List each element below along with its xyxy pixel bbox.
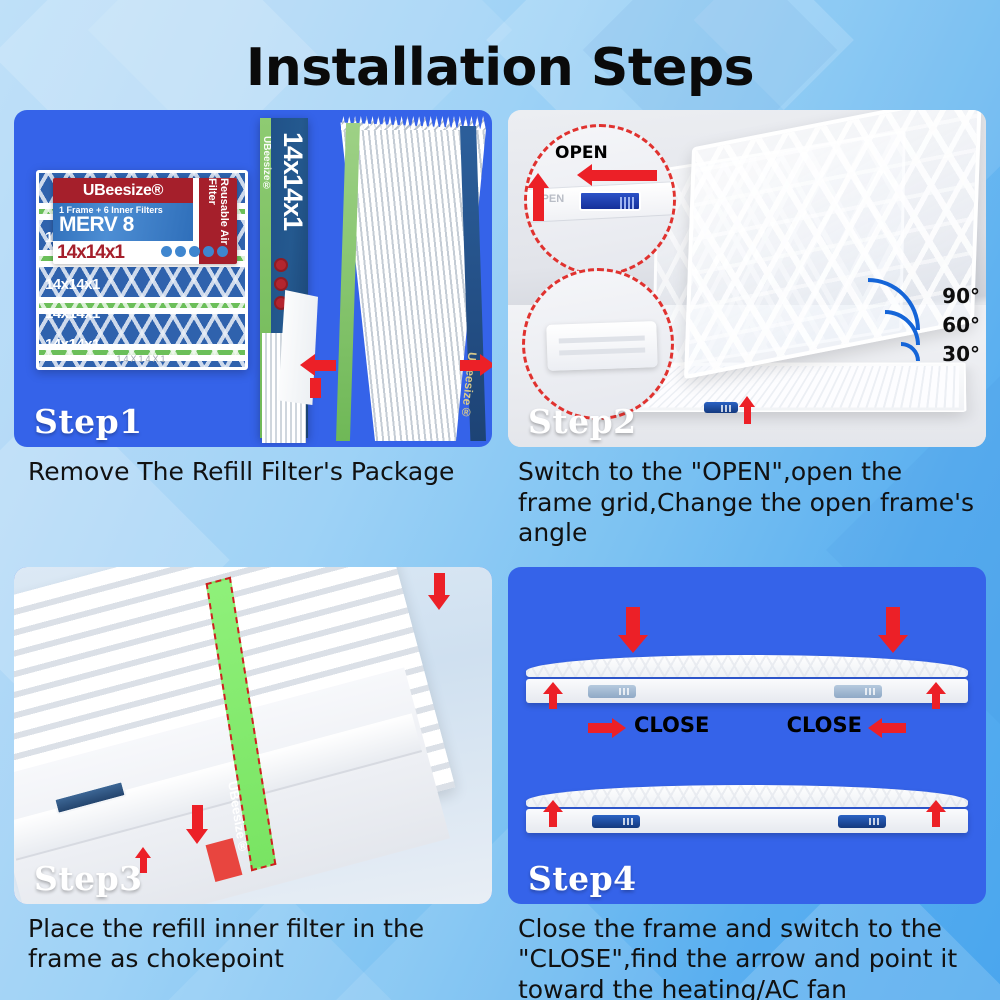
step-4-label: Step4 (528, 859, 637, 898)
steps-grid: 14x14x1 14x14x1 14x14x1 14x14x1 UBeesize… (14, 110, 986, 1000)
angle-label-30: 30° (942, 340, 980, 369)
step-4-column: CLOSE CLOSE (508, 567, 986, 1000)
switch-right-open[interactable] (834, 685, 882, 698)
filter-package-box: 14x14x1 14x14x1 14x14x1 14x14x1 UBeesize… (36, 170, 248, 370)
open-close-slider[interactable] (579, 191, 641, 211)
package-front-label: UBeesize® Reusable Air Filter 1 Frame + … (53, 178, 237, 264)
switch-left-open[interactable] (588, 685, 636, 698)
step-1-panel: 14x14x1 14x14x1 14x14x1 14x14x1 UBeesize… (14, 110, 492, 447)
close-label-left: CLOSE (634, 713, 709, 737)
feature-icon-5 (217, 246, 228, 257)
step-1-caption: Remove The Refill Filter's Package (14, 447, 492, 488)
step-2-panel: 90° 60° 30° OPEN OPEN (508, 110, 986, 447)
peel-arrow-icon (310, 378, 321, 398)
switch-right-closed[interactable] (838, 815, 886, 828)
frame-assembly-open (526, 655, 968, 703)
callout-hinge (522, 268, 674, 420)
filter-size: 14x14x1 (57, 242, 124, 264)
frame-base-closed (526, 809, 968, 833)
steps-row-top: 14x14x1 14x14x1 14x14x1 14x14x1 UBeesize… (14, 110, 986, 549)
frame-lid-closed (526, 785, 968, 807)
hinge-detail (546, 321, 658, 371)
step-1-column: 14x14x1 14x14x1 14x14x1 14x14x1 UBeesize… (14, 110, 492, 549)
close-label-right: CLOSE (787, 713, 862, 737)
step-4-panel: CLOSE CLOSE (508, 567, 986, 904)
frame-lid-open (526, 655, 968, 677)
step-3-label: Step3 (34, 859, 143, 898)
filter-green-edge (336, 123, 360, 442)
angle-labels: 90° 60° 30° (942, 282, 980, 369)
angle-label-60: 60° (942, 311, 980, 340)
package-footer-code: 14X14X1 (39, 354, 245, 364)
page-title: Installation Steps (0, 38, 1000, 98)
frame-assembly-closed (526, 785, 968, 833)
angle-label-90: 90° (942, 282, 980, 311)
step-2-column: 90° 60° 30° OPEN OPEN (508, 110, 986, 549)
step-3-column: UBeesize® Step3 Place the refill inner (14, 567, 492, 1000)
step-4-caption: Close the frame and switch to the "CLOSE… (508, 904, 986, 1000)
callout-open-switch: OPEN OPEN (524, 124, 676, 276)
feature-icons (161, 246, 228, 257)
feature-icon-1 (161, 246, 172, 257)
frame-base-open (526, 679, 968, 703)
step-2-label: Step2 (528, 402, 637, 441)
sleeve-size: 14x14x1 (270, 132, 308, 230)
merv-block: 1 Frame + 6 Inner Filters MERV 8 (53, 203, 193, 241)
lid-honeycomb (526, 655, 968, 677)
step-1-label: Step1 (34, 402, 143, 441)
feature-icon-4 (203, 246, 214, 257)
feature-icon-2 (175, 246, 186, 257)
pleated-filter-fan: UBeesize® (336, 116, 486, 441)
step-2-caption: Switch to the "OPEN",open the frame grid… (508, 447, 986, 549)
switch-left-closed[interactable] (592, 815, 640, 828)
step-3-panel: UBeesize® Step3 (14, 567, 492, 904)
lid-honeycomb-closed (526, 785, 968, 807)
steps-row-bottom: UBeesize® Step3 Place the refill inner (14, 567, 986, 1000)
open-label: OPEN (555, 143, 608, 163)
feature-icon-3 (189, 246, 200, 257)
step-3-caption: Place the refill inner filter in the fra… (14, 904, 492, 975)
brand-name: UBeesize® (53, 178, 193, 203)
base-switch[interactable] (704, 402, 738, 413)
merv-rating: MERV 8 (59, 215, 187, 235)
